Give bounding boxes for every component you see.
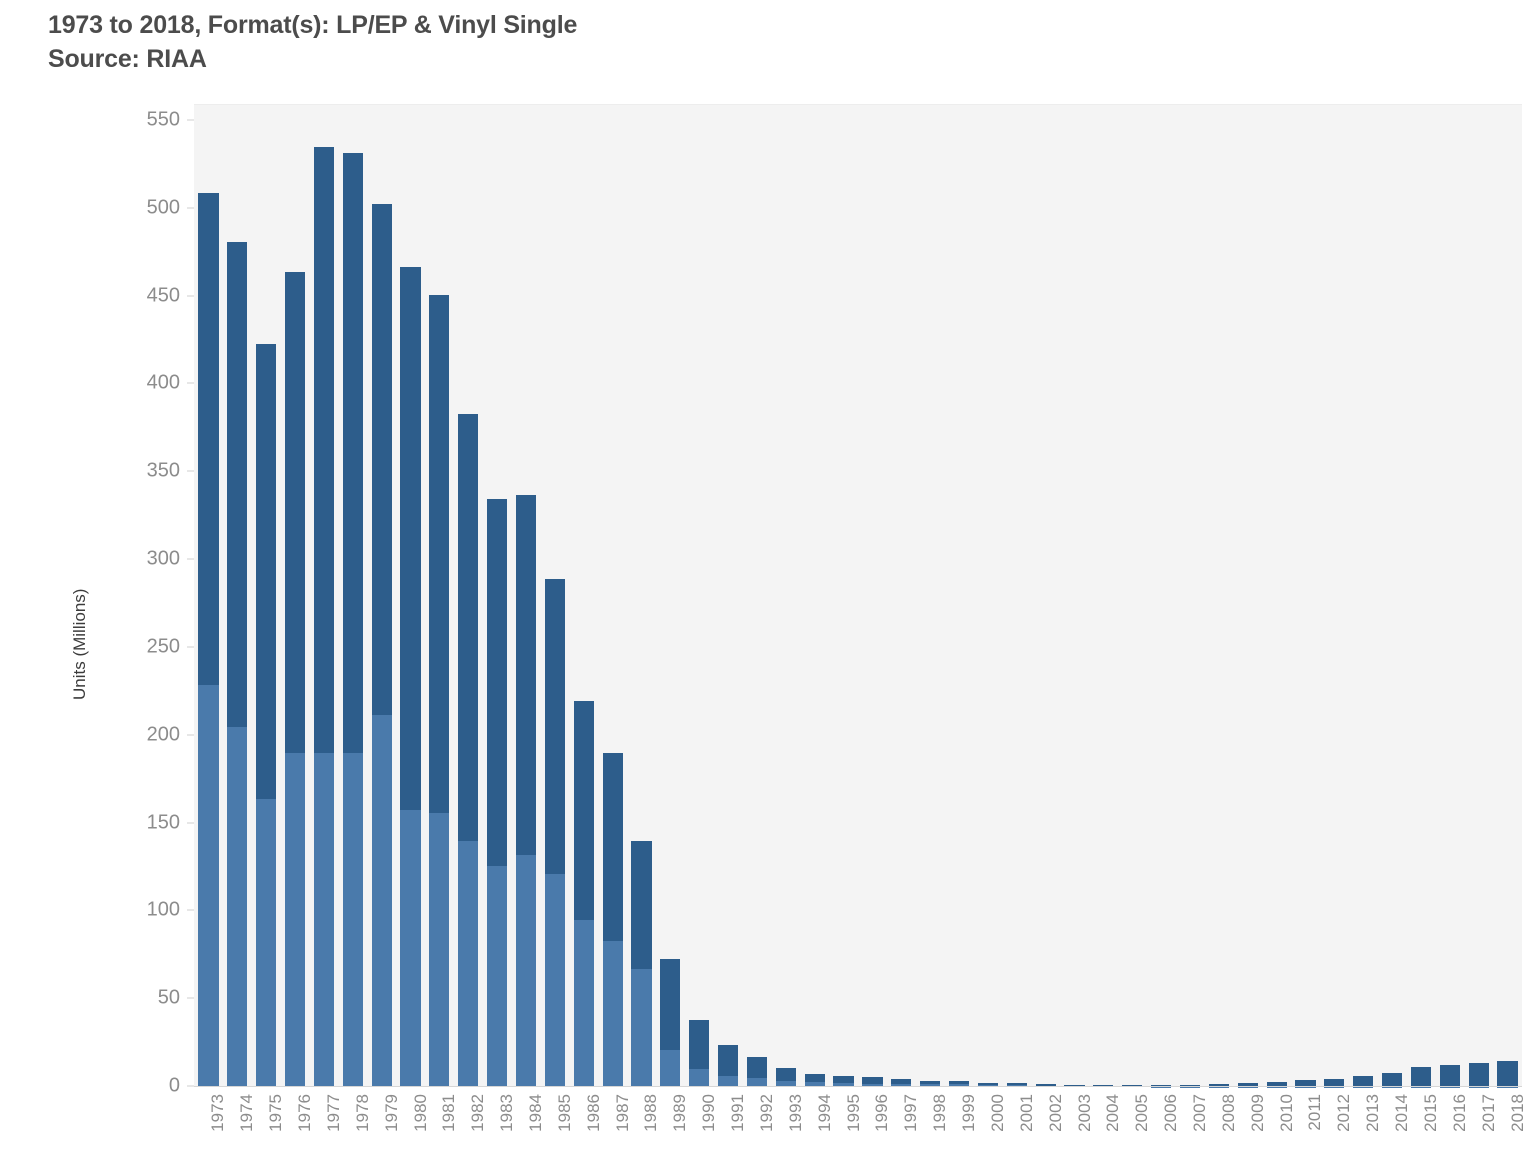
y-axis-tick-label: 300: [147, 548, 180, 571]
bar-segment-vinyl-single[interactable]: [660, 1050, 680, 1087]
bar-segment-vinyl-single[interactable]: [516, 855, 536, 1087]
x-axis-tick-1996: 1996: [859, 1090, 885, 1166]
x-axis-tick-1995: 1995: [831, 1090, 857, 1166]
y-axis-tick-mark: [187, 471, 194, 472]
y-axis-title: Units (Millions): [48, 500, 78, 720]
bar-column[interactable]: [458, 105, 478, 1087]
x-axis-tick-1999: 1999: [946, 1090, 972, 1166]
bar-segment-vinyl-single[interactable]: [400, 810, 420, 1088]
bar-stack[interactable]: [400, 267, 420, 1087]
bar-stack[interactable]: [429, 295, 449, 1087]
x-axis-tick-2009: 2009: [1235, 1090, 1261, 1166]
x-axis-tick-1979: 1979: [369, 1090, 395, 1166]
bar-column[interactable]: [400, 105, 420, 1087]
bar-segment-vinyl-single[interactable]: [343, 753, 363, 1087]
y-axis-tick-label: 0: [169, 1075, 180, 1098]
y-axis-tick-label: 250: [147, 635, 180, 658]
bar-segment-vinyl-single[interactable]: [545, 874, 565, 1087]
bar-column[interactable]: [1093, 105, 1113, 1087]
bar-column[interactable]: [978, 105, 998, 1087]
bar-column[interactable]: [689, 105, 709, 1087]
bar-stack[interactable]: [198, 193, 218, 1087]
bar-column[interactable]: [1295, 105, 1315, 1087]
bar-column[interactable]: [1122, 105, 1142, 1087]
y-axis-title-label: Units (Millions): [70, 589, 90, 700]
x-axis-tick-1981: 1981: [426, 1090, 452, 1166]
bar-stack[interactable]: [631, 841, 651, 1087]
bar-segment-lp-ep[interactable]: [227, 242, 247, 727]
x-axis-tick-1988: 1988: [628, 1090, 654, 1166]
bar-column[interactable]: [660, 105, 680, 1087]
bar-column[interactable]: [718, 105, 738, 1087]
plot-area: [194, 104, 1522, 1087]
x-axis-tick-label: 2018: [1508, 1094, 1528, 1132]
bar-segment-vinyl-single[interactable]: [574, 920, 594, 1087]
x-axis-tick-2017: 2017: [1466, 1090, 1492, 1166]
bar-stack[interactable]: [747, 1057, 767, 1087]
bar-column[interactable]: [429, 105, 449, 1087]
bar-segment-lp-ep[interactable]: [372, 204, 392, 715]
bar-stack[interactable]: [285, 272, 305, 1087]
bar-segment-lp-ep[interactable]: [603, 753, 623, 941]
bar-column[interactable]: [516, 105, 536, 1087]
x-axis-tick-2018: 2018: [1495, 1090, 1521, 1166]
x-axis-tick-1973: 1973: [195, 1090, 221, 1166]
bar-column[interactable]: [603, 105, 623, 1087]
bar-stack[interactable]: [487, 499, 507, 1087]
bar-column[interactable]: [227, 105, 247, 1087]
bar-segment-lp-ep[interactable]: [487, 499, 507, 866]
x-axis-tick-2011: 2011: [1292, 1090, 1318, 1166]
axis-baseline: [194, 1086, 1522, 1087]
y-axis-tick-label: 200: [147, 723, 180, 746]
x-axis-tick-2016: 2016: [1437, 1090, 1463, 1166]
bar-segment-vinyl-single[interactable]: [487, 866, 507, 1087]
x-axis-tick-1993: 1993: [773, 1090, 799, 1166]
bar-column[interactable]: [1064, 105, 1084, 1087]
bar-stack[interactable]: [776, 1068, 796, 1087]
bar-stack[interactable]: [372, 204, 392, 1087]
bar-segment-vinyl-single[interactable]: [227, 727, 247, 1087]
x-axis-tick-2005: 2005: [1119, 1090, 1145, 1166]
bar-segment-lp-ep[interactable]: [1382, 1073, 1402, 1087]
bar-stack[interactable]: [660, 959, 680, 1087]
bar-segment-vinyl-single[interactable]: [429, 813, 449, 1087]
x-axis-tick-2012: 2012: [1321, 1090, 1347, 1166]
bar-column[interactable]: [1180, 105, 1200, 1087]
bar-column[interactable]: [1382, 105, 1402, 1087]
x-axis-tick-1991: 1991: [715, 1090, 741, 1166]
y-axis-tick-label: 500: [147, 196, 180, 219]
bar-stack[interactable]: [1411, 1067, 1431, 1087]
x-axis-tick-2002: 2002: [1033, 1090, 1059, 1166]
bar-column[interactable]: [285, 105, 305, 1087]
bar-segment-lp-ep[interactable]: [343, 153, 363, 754]
bar-segment-vinyl-single[interactable]: [372, 715, 392, 1087]
x-axis-tick-1977: 1977: [311, 1090, 337, 1166]
y-axis-tick-mark: [187, 295, 194, 296]
x-axis-tick-1997: 1997: [888, 1090, 914, 1166]
bar-segment-vinyl-single[interactable]: [631, 969, 651, 1087]
y-axis-tick-mark: [187, 1086, 194, 1087]
bar-segment-lp-ep[interactable]: [516, 495, 536, 855]
y-axis-tick-mark: [187, 998, 194, 999]
bar-segment-lp-ep[interactable]: [631, 841, 651, 969]
bar-stack[interactable]: [1469, 1063, 1489, 1087]
x-axis-tick-2000: 2000: [975, 1090, 1001, 1166]
bar-segment-lp-ep[interactable]: [660, 959, 680, 1050]
bar-column[interactable]: [1209, 105, 1229, 1087]
x-axis-tick-1986: 1986: [571, 1090, 597, 1166]
bar-stack[interactable]: [603, 753, 623, 1087]
bar-stack[interactable]: [516, 495, 536, 1087]
bar-segment-vinyl-single[interactable]: [314, 753, 334, 1087]
bar-segment-lp-ep[interactable]: [1440, 1065, 1460, 1087]
bar-column[interactable]: [949, 105, 969, 1087]
bar-segment-lp-ep[interactable]: [747, 1057, 767, 1078]
bar-segment-vinyl-single[interactable]: [458, 841, 478, 1087]
y-axis-tick-mark: [187, 822, 194, 823]
bar-column[interactable]: [920, 105, 940, 1087]
y-axis-tick-label: 100: [147, 899, 180, 922]
x-axis-tick-1980: 1980: [398, 1090, 424, 1166]
x-axis-tick-2003: 2003: [1062, 1090, 1088, 1166]
bar-column[interactable]: [198, 105, 218, 1087]
x-axis-tick-1985: 1985: [542, 1090, 568, 1166]
bar-segment-lp-ep[interactable]: [1497, 1061, 1517, 1087]
x-axis-tick-1990: 1990: [686, 1090, 712, 1166]
bar-segment-vinyl-single[interactable]: [689, 1069, 709, 1087]
bar-column[interactable]: [487, 105, 507, 1087]
y-axis-tick-mark: [187, 646, 194, 647]
bar-stack[interactable]: [574, 701, 594, 1087]
y-axis: 050100150200250300350400450500550: [120, 104, 194, 1086]
y-axis-tick-label: 450: [147, 284, 180, 307]
vinyl-units-bar-chart: Units (Millions) 05010015020025030035040…: [0, 0, 1534, 1172]
bar-stack[interactable]: [343, 153, 363, 1087]
y-axis-tick-label: 400: [147, 372, 180, 395]
y-axis-tick-mark: [187, 207, 194, 208]
x-axis-tick-2015: 2015: [1408, 1090, 1434, 1166]
bar-stack[interactable]: [1382, 1073, 1402, 1087]
bar-column[interactable]: [1036, 105, 1056, 1087]
x-axis-tick-1978: 1978: [340, 1090, 366, 1166]
bar-segment-vinyl-single[interactable]: [256, 799, 276, 1087]
bar-stack[interactable]: [227, 242, 247, 1087]
x-axis-tick-1976: 1976: [282, 1090, 308, 1166]
bar-stack[interactable]: [545, 579, 565, 1087]
x-axis-tick-1982: 1982: [455, 1090, 481, 1166]
bar-segment-lp-ep[interactable]: [689, 1020, 709, 1069]
bar-segment-lp-ep[interactable]: [545, 579, 565, 874]
bar-column[interactable]: [862, 105, 882, 1087]
bar-column[interactable]: [631, 105, 651, 1087]
x-axis-tick-2001: 2001: [1004, 1090, 1030, 1166]
bar-column[interactable]: [1440, 105, 1460, 1087]
bar-segment-lp-ep[interactable]: [458, 414, 478, 841]
bar-column[interactable]: [372, 105, 392, 1087]
bar-stack[interactable]: [314, 147, 334, 1087]
bar-column[interactable]: [805, 105, 825, 1087]
bar-segment-lp-ep[interactable]: [314, 147, 334, 753]
x-axis-tick-2014: 2014: [1379, 1090, 1405, 1166]
bar-segment-lp-ep[interactable]: [429, 295, 449, 813]
bar-segment-lp-ep[interactable]: [400, 267, 420, 810]
bar-column[interactable]: [1469, 105, 1489, 1087]
y-axis-tick-label: 550: [147, 109, 180, 132]
bar-column[interactable]: [776, 105, 796, 1087]
bar-column[interactable]: [256, 105, 276, 1087]
x-axis-tick-2007: 2007: [1177, 1090, 1203, 1166]
bar-column[interactable]: [314, 105, 334, 1087]
bar-segment-vinyl-single[interactable]: [285, 753, 305, 1087]
bar-stack[interactable]: [1440, 1065, 1460, 1087]
bar-segment-lp-ep[interactable]: [776, 1068, 796, 1081]
bar-segment-lp-ep[interactable]: [574, 701, 594, 921]
bar-segment-vinyl-single[interactable]: [198, 685, 218, 1087]
bar-segment-lp-ep[interactable]: [1411, 1067, 1431, 1087]
x-axis-tick-1983: 1983: [484, 1090, 510, 1166]
x-axis-tick-2004: 2004: [1090, 1090, 1116, 1166]
bar-column[interactable]: [747, 105, 767, 1087]
x-axis-tick-1987: 1987: [600, 1090, 626, 1166]
bar-column[interactable]: [1151, 105, 1171, 1087]
bars-layer: [194, 105, 1522, 1087]
x-axis-tick-1998: 1998: [917, 1090, 943, 1166]
y-axis-tick-mark: [187, 910, 194, 911]
x-axis-tick-2010: 2010: [1264, 1090, 1290, 1166]
y-axis-tick-label: 150: [147, 811, 180, 834]
bar-segment-lp-ep[interactable]: [805, 1074, 825, 1082]
y-axis-tick-mark: [187, 383, 194, 384]
bar-column[interactable]: [1411, 105, 1431, 1087]
bar-column[interactable]: [343, 105, 363, 1087]
bar-stack[interactable]: [458, 414, 478, 1087]
y-axis-tick-mark: [187, 734, 194, 735]
x-axis-tick-1974: 1974: [224, 1090, 250, 1166]
x-axis-tick-1994: 1994: [802, 1090, 828, 1166]
bar-segment-lp-ep[interactable]: [285, 272, 305, 753]
bar-column[interactable]: [1007, 105, 1027, 1087]
x-axis-tick-2013: 2013: [1350, 1090, 1376, 1166]
bar-column[interactable]: [891, 105, 911, 1087]
y-axis-tick-mark: [187, 120, 194, 121]
x-axis-tick-1975: 1975: [253, 1090, 279, 1166]
bar-stack[interactable]: [256, 344, 276, 1087]
bar-column[interactable]: [833, 105, 853, 1087]
bar-column[interactable]: [1238, 105, 1258, 1087]
bar-column[interactable]: [574, 105, 594, 1087]
bar-column[interactable]: [1353, 105, 1373, 1087]
bar-column[interactable]: [1324, 105, 1344, 1087]
y-axis-tick-label: 50: [158, 987, 180, 1010]
bar-column[interactable]: [1267, 105, 1287, 1087]
bar-segment-lp-ep[interactable]: [718, 1045, 738, 1077]
bar-segment-lp-ep[interactable]: [1469, 1063, 1489, 1087]
x-axis-tick-2008: 2008: [1206, 1090, 1232, 1166]
x-axis-tick-2006: 2006: [1148, 1090, 1174, 1166]
bar-stack[interactable]: [1497, 1061, 1517, 1087]
bar-stack[interactable]: [718, 1045, 738, 1087]
x-axis-tick-1992: 1992: [744, 1090, 770, 1166]
x-axis-tick-1984: 1984: [513, 1090, 539, 1166]
bar-column[interactable]: [1497, 105, 1517, 1087]
x-axis-tick-1989: 1989: [657, 1090, 683, 1166]
y-axis-tick-mark: [187, 559, 194, 560]
bar-segment-vinyl-single[interactable]: [603, 941, 623, 1087]
x-axis: 1973197419751976197719781979198019811982…: [194, 1090, 1522, 1172]
bar-segment-lp-ep[interactable]: [256, 344, 276, 799]
bar-column[interactable]: [545, 105, 565, 1087]
bar-stack[interactable]: [689, 1020, 709, 1087]
y-axis-tick-label: 350: [147, 460, 180, 483]
bar-segment-lp-ep[interactable]: [198, 193, 218, 685]
